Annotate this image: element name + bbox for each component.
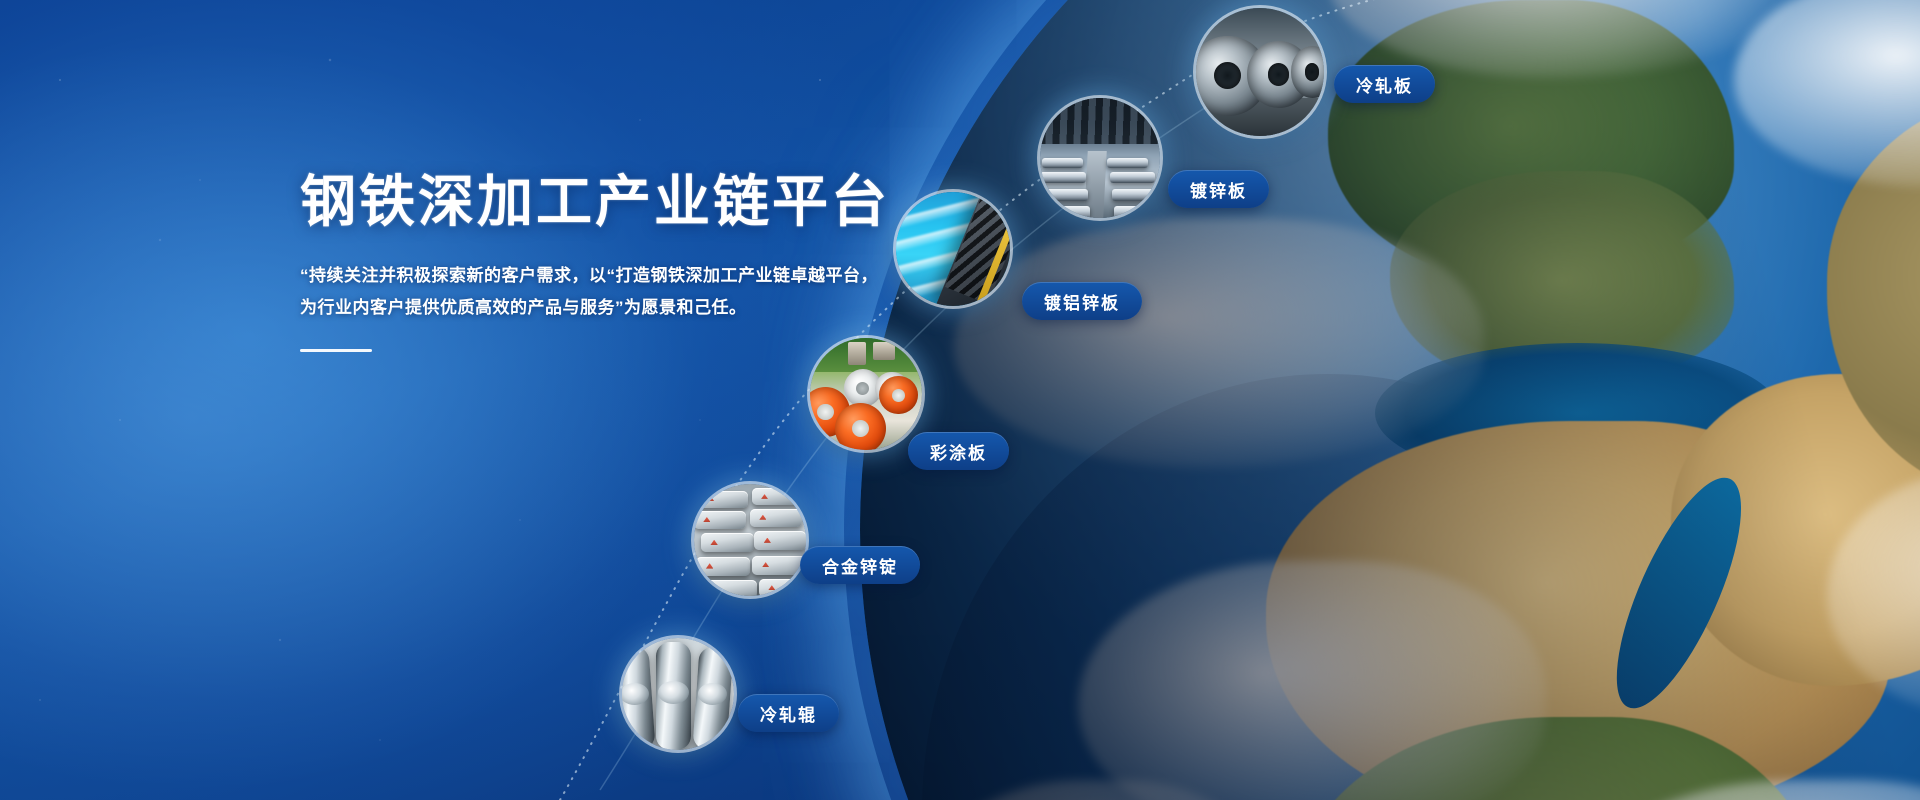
- earth-sphere: [860, 0, 1920, 800]
- subtitle-line-1: “持续关注并积极探索新的客户需求，以“打造钢铁深加工产业链卓越平台，: [300, 260, 920, 291]
- steel-coil-icon[interactable]: [1196, 8, 1324, 136]
- atmosphere-glow: [844, 0, 1920, 800]
- product-label-color-coated-plate[interactable]: 彩涂板: [908, 432, 1009, 470]
- title-divider: [300, 349, 372, 352]
- subtitle-line-2: 为行业内客户提供优质高效的产品与服务”为愿景和己任。: [300, 292, 920, 323]
- page-title: 钢铁深加工产业链平台: [300, 170, 920, 234]
- color-coated-coil-icon[interactable]: [810, 338, 922, 450]
- zinc-ingot-icon[interactable]: [694, 484, 806, 596]
- connector-path: [0, 0, 1920, 800]
- rolling-roll-icon[interactable]: [622, 638, 734, 750]
- galvanized-warehouse-icon[interactable]: [1040, 98, 1160, 218]
- starfield-decoration: [0, 0, 1920, 800]
- hero-copy: 钢铁深加工产业链平台 “持续关注并积极探索新的客户需求，以“打造钢铁深加工产业链…: [300, 170, 920, 352]
- product-label-aluzinc-plate[interactable]: 镀铝锌板: [1022, 282, 1142, 320]
- hero-banner: 钢铁深加工产业链平台 “持续关注并积极探索新的客户需求，以“打造钢铁深加工产业链…: [0, 0, 1920, 800]
- day-night-terminator: [860, 0, 1920, 800]
- product-label-galvanized-plate[interactable]: 镀锌板: [1168, 170, 1269, 208]
- hero-subtitle: “持续关注并积极探索新的客户需求，以“打造钢铁深加工产业链卓越平台， 为行业内客…: [300, 260, 920, 323]
- product-label-cold-rolled-plate[interactable]: 冷轧板: [1334, 65, 1435, 103]
- product-label-cold-rolling-roll[interactable]: 冷轧辊: [738, 694, 839, 732]
- product-label-alloy-zinc-ingot[interactable]: 合金锌锭: [800, 546, 920, 584]
- blue-haze-decoration: [0, 0, 1920, 800]
- aluzinc-sheet-icon[interactable]: [896, 192, 1010, 306]
- earth-globe: [860, 0, 1920, 800]
